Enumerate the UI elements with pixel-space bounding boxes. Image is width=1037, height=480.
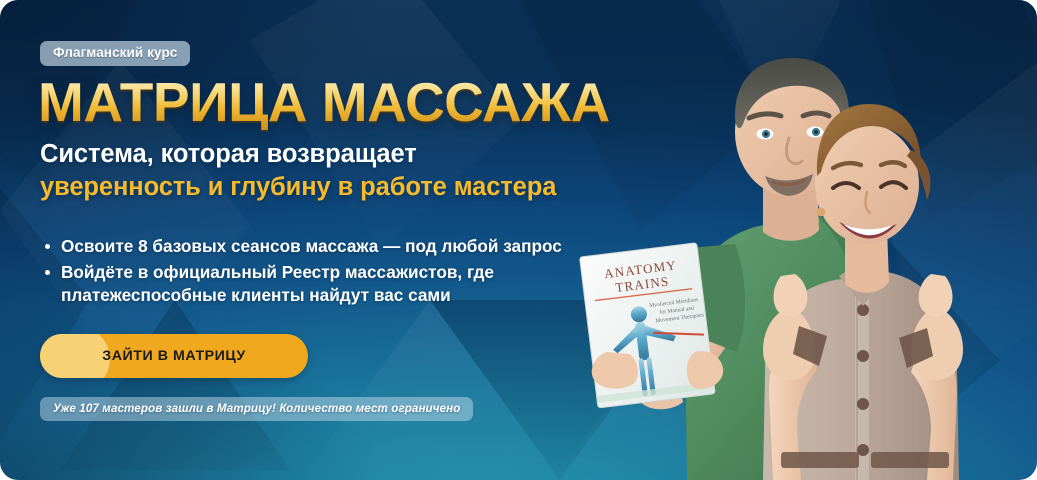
page-title: МАТРИЦА МАССАЖА <box>38 74 660 130</box>
list-item: Войдёте в официальный Реестр массажистов… <box>40 261 573 307</box>
flagship-course-badge: Флагманский курс <box>40 41 190 66</box>
subtitle-line-white: Система, которая возвращает <box>40 139 660 169</box>
scarcity-note: Уже 107 мастеров зашли в Матрицу! Количе… <box>40 397 473 422</box>
banner-content: Флагманский курс МАТРИЦА МАССАЖА Система… <box>40 0 660 480</box>
subtitle-line-gold: уверенность и глубину в работе мастера <box>40 172 660 202</box>
cta-label: ЗАЙТИ В МАТРИЦУ <box>102 348 245 364</box>
promo-banner: ANATOMY TRAINS Myofascial Meridians for … <box>0 0 1037 480</box>
enter-matrix-cta-button[interactable]: ЗАЙТИ В МАТРИЦУ <box>40 334 308 378</box>
benefits-list: Освоите 8 базовых сеансов массажа — под … <box>40 235 660 307</box>
list-item: Освоите 8 базовых сеансов массажа — под … <box>40 235 573 258</box>
